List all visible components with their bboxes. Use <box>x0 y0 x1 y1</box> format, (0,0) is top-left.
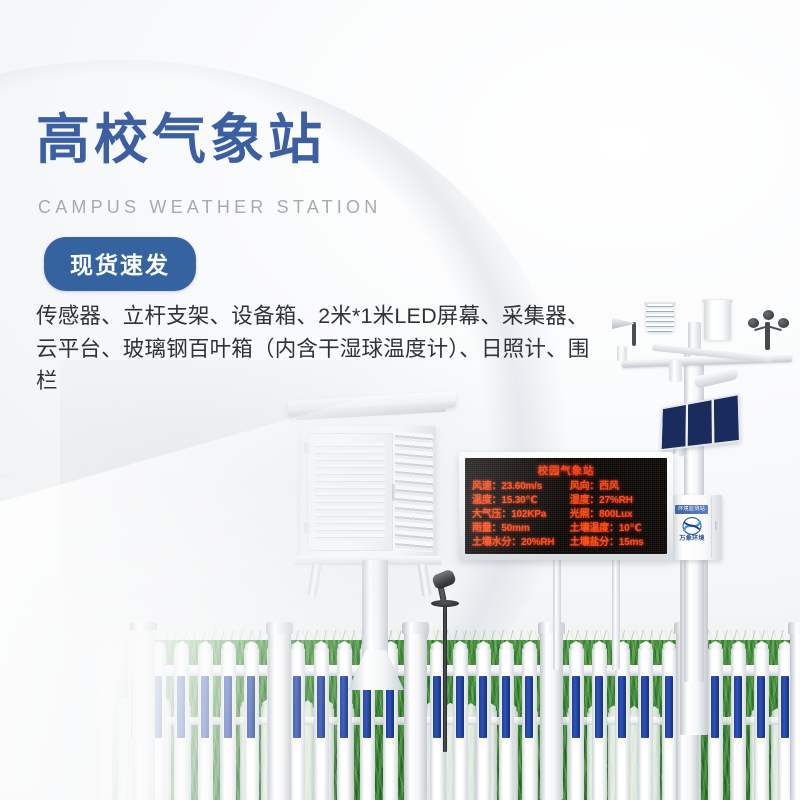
fence-picket <box>731 648 746 800</box>
led-reading-row: 土壤水分：20%RH土壤盐分：15ms <box>472 536 660 549</box>
fence-picket-stripe <box>595 676 603 738</box>
screen-pedestal <box>362 560 388 660</box>
fence-picket <box>708 648 723 800</box>
control-cabinet[interactable]: 环境监测站 万象环境 <box>672 495 722 560</box>
fence-picket <box>592 648 607 800</box>
fence-picket-stripe <box>293 676 301 738</box>
fence-picket-stripe <box>781 676 789 738</box>
led-reading-right: 土壤盐分：15ms <box>570 536 660 549</box>
fence-picket-stripe <box>665 676 673 738</box>
anemometer-cup-top <box>763 310 774 320</box>
poster-root: 环境监测站 万象环境 校园气象站 风速：23.60m/s风向：西风温度：15.3… <box>0 0 800 800</box>
screen-side-louvers <box>395 432 433 553</box>
led-support-post-left <box>553 558 561 670</box>
spotlight-pole <box>443 604 447 752</box>
led-reading-left: 雨量：50mm <box>472 522 570 535</box>
led-reading-left: 大气压：102KPa <box>472 508 570 521</box>
fence-picket <box>314 648 329 800</box>
fence-picket-stripe <box>456 676 464 738</box>
screen-hinge-top <box>304 442 311 453</box>
fence-picket-stripe <box>525 676 533 738</box>
cabinet-brand-logo-icon <box>678 517 706 535</box>
cabinet-brand-text: 万象环境 <box>674 535 710 543</box>
fence-picket-stripe <box>757 676 765 738</box>
cabinet-lock[interactable] <box>715 521 719 530</box>
fence-picket <box>662 648 677 800</box>
led-screen: 校园气象站 风速：23.60m/s风向：西风温度：15.30℃湿度：27%RH大… <box>465 458 667 554</box>
led-reading-left: 温度：15.30℃ <box>472 494 570 507</box>
fence-picket-stripe <box>734 676 742 738</box>
led-reading-row: 大气压：102KPa光照：800Lux <box>472 508 660 521</box>
led-reading-row: 雨量：50mm土壤温度：10℃ <box>472 522 660 535</box>
led-reading-right: 光照：800Lux <box>570 508 660 521</box>
fence-picket <box>337 648 352 800</box>
page-title: 高校气象站 <box>36 113 326 167</box>
fence-picket-stripe <box>711 676 719 738</box>
led-reading-row: 温度：15.30℃湿度：27%RH <box>472 494 660 507</box>
sunshine-recorder <box>669 360 682 382</box>
fence-picket-stripe <box>317 676 325 738</box>
status-badge: 现货速发 <box>44 237 196 291</box>
fence-picket-stripe <box>641 676 649 738</box>
solar-panel-divider-1 <box>685 405 687 447</box>
fence-picket-stripe <box>479 676 487 738</box>
fence-picket <box>615 648 630 800</box>
fence-post <box>404 632 427 800</box>
screen-leg-left <box>308 563 322 596</box>
wind-vane-shaft <box>632 322 636 346</box>
led-readings-grid: 风速：23.60m/s风向：西风温度：15.30℃湿度：27%RH大气压：102… <box>472 480 660 549</box>
led-reading-row: 风速：23.60m/s风向：西风 <box>472 480 660 493</box>
anemometer-cup-right <box>778 318 789 328</box>
cabinet-door-seam <box>711 497 712 558</box>
fence-picket-stripe <box>433 676 441 738</box>
led-reading-right: 土壤温度：10℃ <box>570 522 660 535</box>
fence-picket <box>476 648 491 800</box>
fence-post <box>790 632 800 800</box>
fence-picket <box>499 648 514 800</box>
fence-post <box>268 632 291 800</box>
led-display-board[interactable]: 校园气象站 风速：23.60m/s风向：西风温度：15.30℃湿度：27%RH大… <box>459 452 673 560</box>
fence-picket <box>290 648 305 800</box>
screen-door <box>307 433 393 551</box>
spotlight-base-plate <box>431 600 459 607</box>
screen-leg-right <box>418 563 432 596</box>
led-reading-left: 土壤水分：20%RH <box>472 536 570 549</box>
fence-picket-stripe <box>502 676 510 738</box>
auxiliary-sensor <box>617 346 627 361</box>
rain-gauge-sensor <box>704 300 731 340</box>
screen-door-louvers <box>315 443 385 541</box>
product-description: 传感器、立杆支架、设备箱、2米*1米LED屏幕、采集器、云平台、玻璃钢百叶箱（内… <box>36 300 596 398</box>
led-reading-left: 风速：23.60m/s <box>472 480 570 493</box>
page-subtitle: CAMPUS WEATHER STATION <box>38 198 381 216</box>
fence-picket <box>569 648 584 800</box>
fence-picket <box>638 648 653 800</box>
led-screen-title: 校园气象站 <box>472 463 660 478</box>
led-support-post-right <box>612 558 620 670</box>
grass-left-fade <box>100 630 270 800</box>
cabinet-label: 环境监测站 <box>675 505 708 514</box>
fence-picket <box>453 648 468 800</box>
fence-picket-stripe <box>572 676 580 738</box>
radiation-shield-sensor <box>646 304 674 332</box>
screen-hinge-bottom <box>304 522 311 533</box>
fence-picket-stripe <box>340 676 348 738</box>
led-reading-right: 风向：西风 <box>570 480 660 493</box>
solar-panel-divider-2 <box>711 400 713 443</box>
led-reading-right: 湿度：27%RH <box>570 494 660 507</box>
fence-picket <box>522 648 537 800</box>
fence-picket <box>754 648 769 800</box>
screen-body <box>300 426 436 559</box>
anemometer-cup-left <box>748 318 759 328</box>
fence-picket-stripe <box>618 676 626 738</box>
